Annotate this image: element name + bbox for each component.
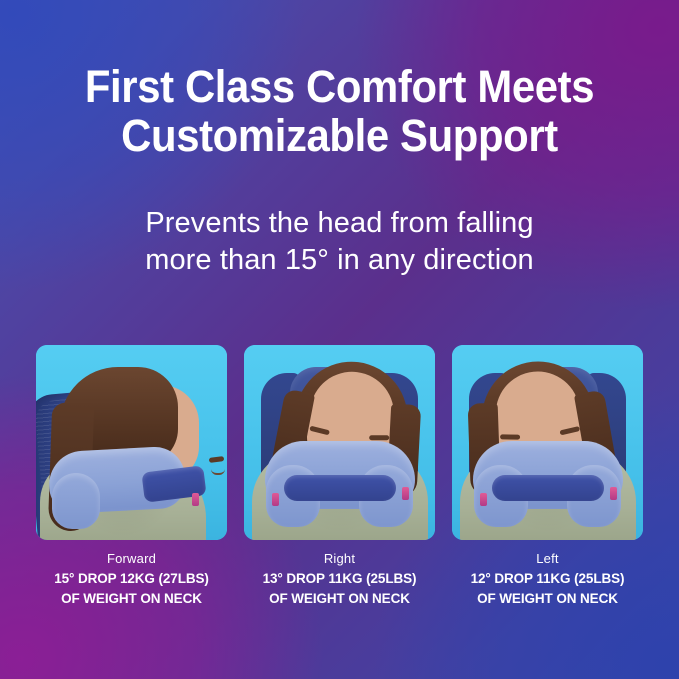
travel-pillow (244, 345, 435, 540)
pillow-front-strap (284, 475, 396, 501)
pillow-brand-tag-right (402, 487, 409, 500)
caption-right: Right 13° DROP 11KG (25LBS) OF WEIGHT ON… (244, 551, 435, 607)
caption-title: Right (244, 551, 435, 567)
pillow-brand-tag-left (480, 493, 487, 506)
product-photo-left (452, 345, 643, 540)
headline-line-2: Customizable Support (24, 111, 655, 160)
product-infographic-poster: First Class Comfort Meets Customizable S… (0, 0, 679, 679)
product-photo-forward (36, 345, 227, 540)
travel-pillow (36, 345, 227, 540)
page-title: First Class Comfort Meets Customizable S… (24, 62, 655, 160)
pillow-lobe-left (52, 473, 100, 529)
caption-left: Left 12° DROP 11KG (25LBS) OF WEIGHT ON … (452, 551, 643, 607)
demo-panel-left: Left 12° DROP 11KG (25LBS) OF WEIGHT ON … (452, 345, 643, 607)
caption-forward: Forward 15° DROP 12KG (27LBS) OF WEIGHT … (36, 551, 227, 607)
product-photo-right (244, 345, 435, 540)
page-subtitle: Prevents the head from falling more than… (0, 205, 679, 279)
demo-panel-forward: Forward 15° DROP 12KG (27LBS) OF WEIGHT … (36, 345, 227, 607)
subhead-line-2: more than 15° in any direction (0, 242, 679, 279)
caption-detail-line-1: 13° DROP 11KG (25LBS) (244, 571, 435, 587)
travel-pillow (452, 345, 643, 540)
demo-panel-right: Right 13° DROP 11KG (25LBS) OF WEIGHT ON… (244, 345, 435, 607)
caption-detail-line-1: 15° DROP 12KG (27LBS) (36, 571, 227, 587)
headline-line-1: First Class Comfort Meets (24, 62, 655, 111)
pillow-brand-tag-right (192, 493, 199, 506)
caption-detail-line-2: OF WEIGHT ON NECK (244, 591, 435, 607)
pillow-brand-tag-right (610, 487, 617, 500)
caption-detail-line-1: 12° DROP 11KG (25LBS) (452, 571, 643, 587)
caption-detail-line-2: OF WEIGHT ON NECK (452, 591, 643, 607)
pillow-front-strap (492, 475, 604, 501)
subhead-line-1: Prevents the head from falling (0, 205, 679, 242)
caption-title: Left (452, 551, 643, 567)
caption-detail-line-2: OF WEIGHT ON NECK (36, 591, 227, 607)
demonstration-panel-row: Forward 15° DROP 12KG (27LBS) OF WEIGHT … (36, 345, 643, 607)
caption-title: Forward (36, 551, 227, 567)
pillow-brand-tag-left (272, 493, 279, 506)
